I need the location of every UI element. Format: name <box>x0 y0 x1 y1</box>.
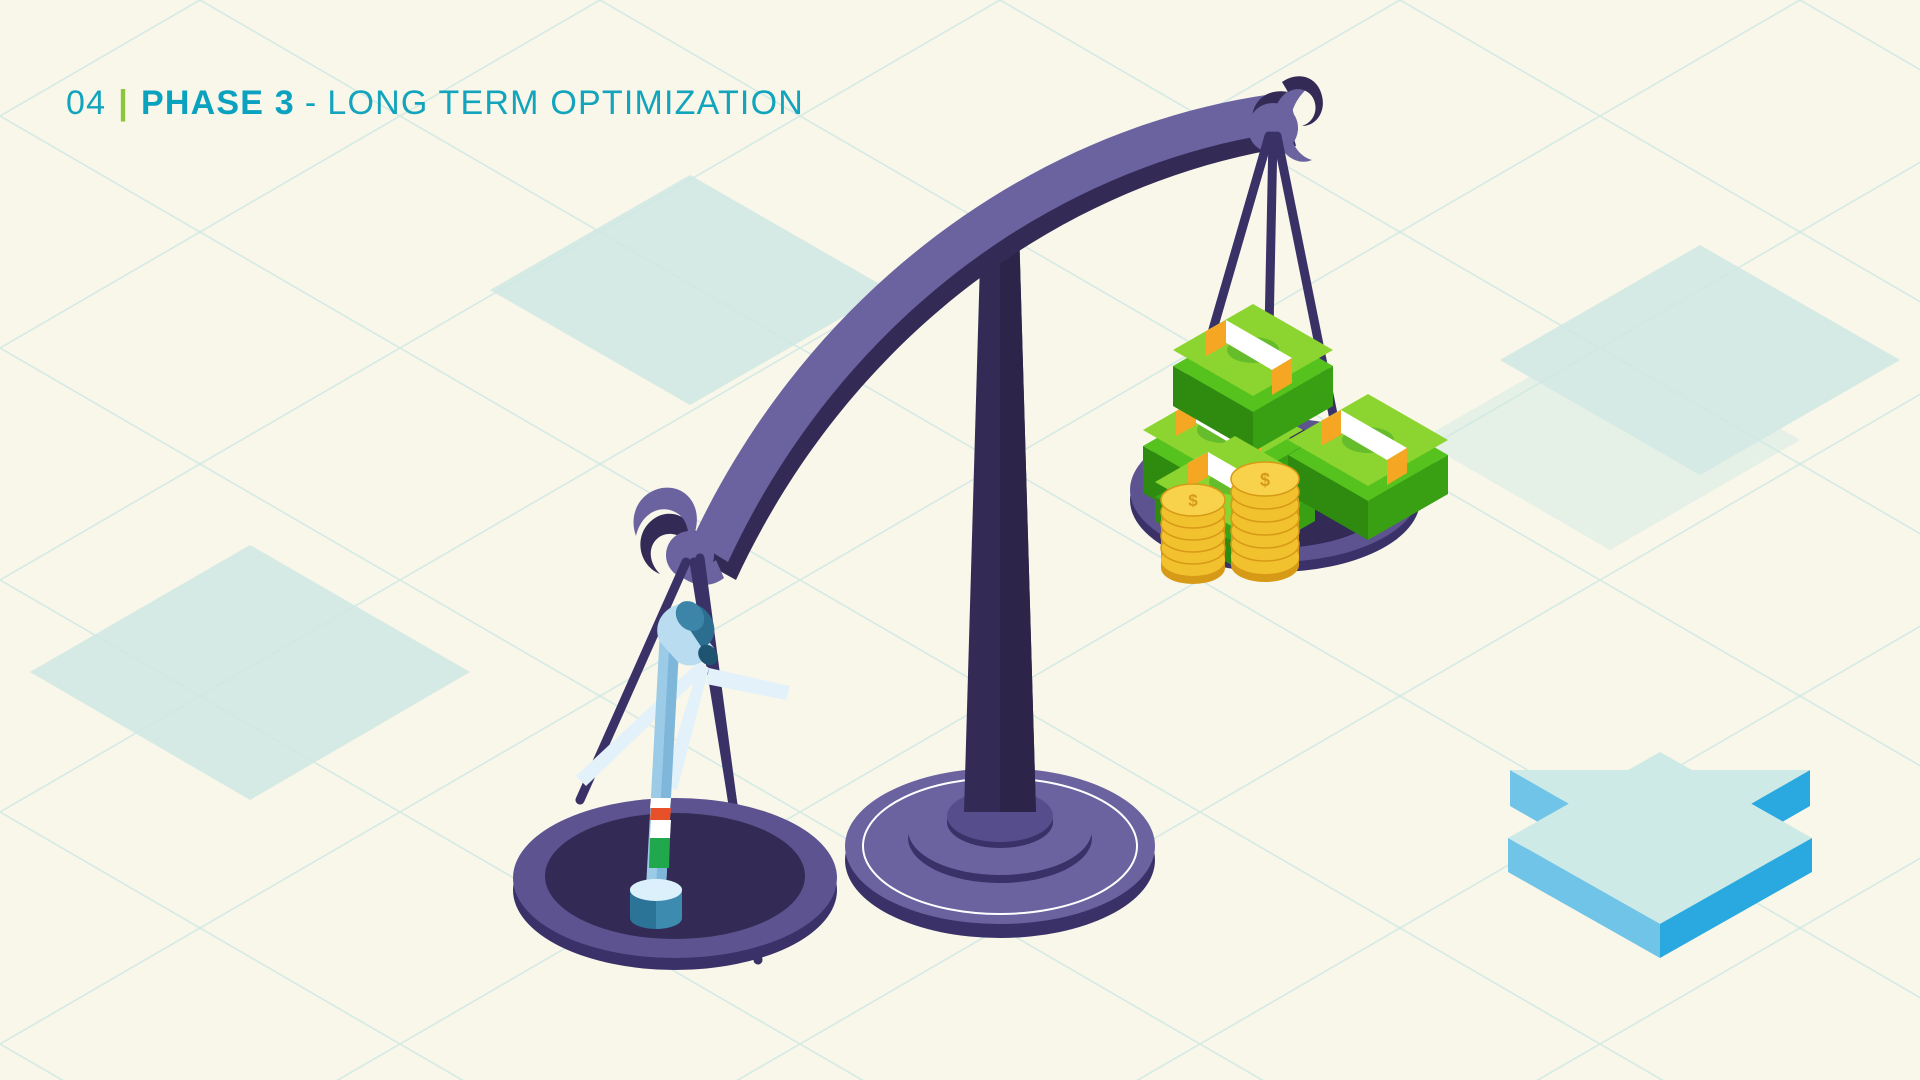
title-subtitle: LONG TERM OPTIMIZATION <box>327 86 804 120</box>
svg-text:$: $ <box>1260 470 1270 490</box>
title-phase: PHASE 3 <box>141 86 295 120</box>
title-number: 04 <box>66 86 106 120</box>
slide-canvas: 04 | PHASE 3 - LONG TERM OPTIMIZATION <box>0 0 1920 1080</box>
title-separator: | <box>118 86 129 120</box>
blue-slab <box>1508 752 1812 958</box>
coin-stack-left: $ <box>1161 484 1225 584</box>
coin-stack-right: $ <box>1231 462 1299 582</box>
svg-text:$: $ <box>1188 491 1198 510</box>
scale-column <box>964 219 1036 812</box>
page-title: 04 | PHASE 3 - LONG TERM OPTIMIZATION <box>66 86 804 120</box>
balance-scale-illustration: $ $ <box>0 0 1920 1080</box>
title-dash: - <box>305 86 318 120</box>
